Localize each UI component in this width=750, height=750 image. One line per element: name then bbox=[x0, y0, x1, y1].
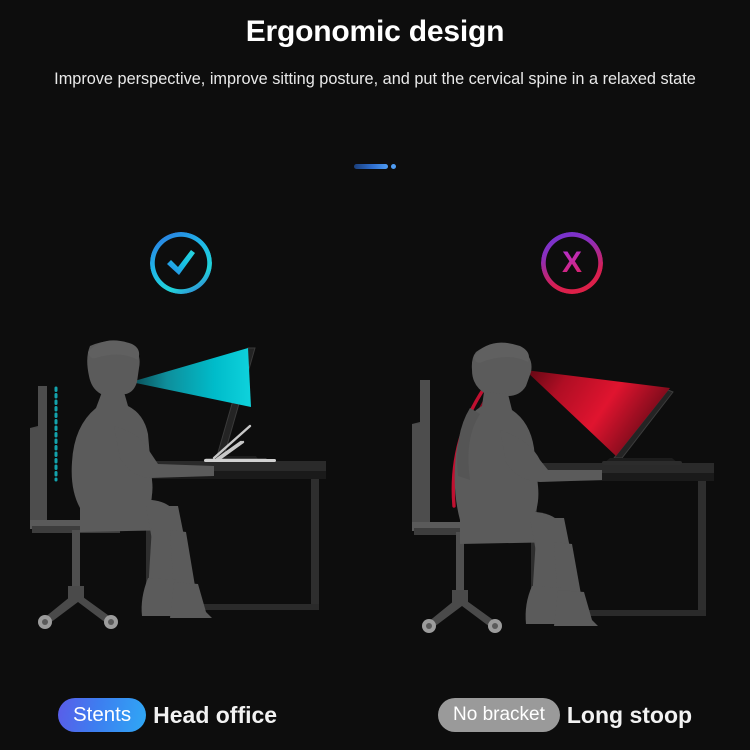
header: Ergonomic design Improve perspective, im… bbox=[0, 0, 750, 92]
gaze-cone-bad bbox=[525, 370, 670, 456]
checkmark-icon bbox=[164, 247, 198, 279]
divider-bar-icon bbox=[354, 164, 388, 169]
footer-label-bad: No bracket Long stoop bbox=[438, 698, 692, 732]
scene-bad-posture bbox=[398, 330, 738, 655]
gaze-cone-good bbox=[131, 348, 251, 407]
page-subtitle: Improve perspective, improve sitting pos… bbox=[45, 53, 705, 92]
footer-label-good: Stents Head office bbox=[58, 698, 277, 732]
divider-dot-icon bbox=[391, 164, 396, 169]
pill-no-bracket: No bracket bbox=[438, 698, 560, 732]
bad-posture-badge: X bbox=[541, 232, 603, 294]
caption-long-stoop: Long stoop bbox=[567, 702, 692, 729]
divider bbox=[0, 160, 750, 172]
pill-stents: Stents bbox=[58, 698, 146, 732]
scene-good-posture bbox=[18, 330, 358, 655]
x-mark-icon: X bbox=[562, 248, 582, 278]
good-posture-badge bbox=[150, 232, 212, 294]
caption-head-office: Head office bbox=[153, 702, 277, 729]
ergonomic-design-infographic: Ergonomic design Improve perspective, im… bbox=[0, 0, 750, 750]
page-title: Ergonomic design bbox=[0, 0, 750, 53]
